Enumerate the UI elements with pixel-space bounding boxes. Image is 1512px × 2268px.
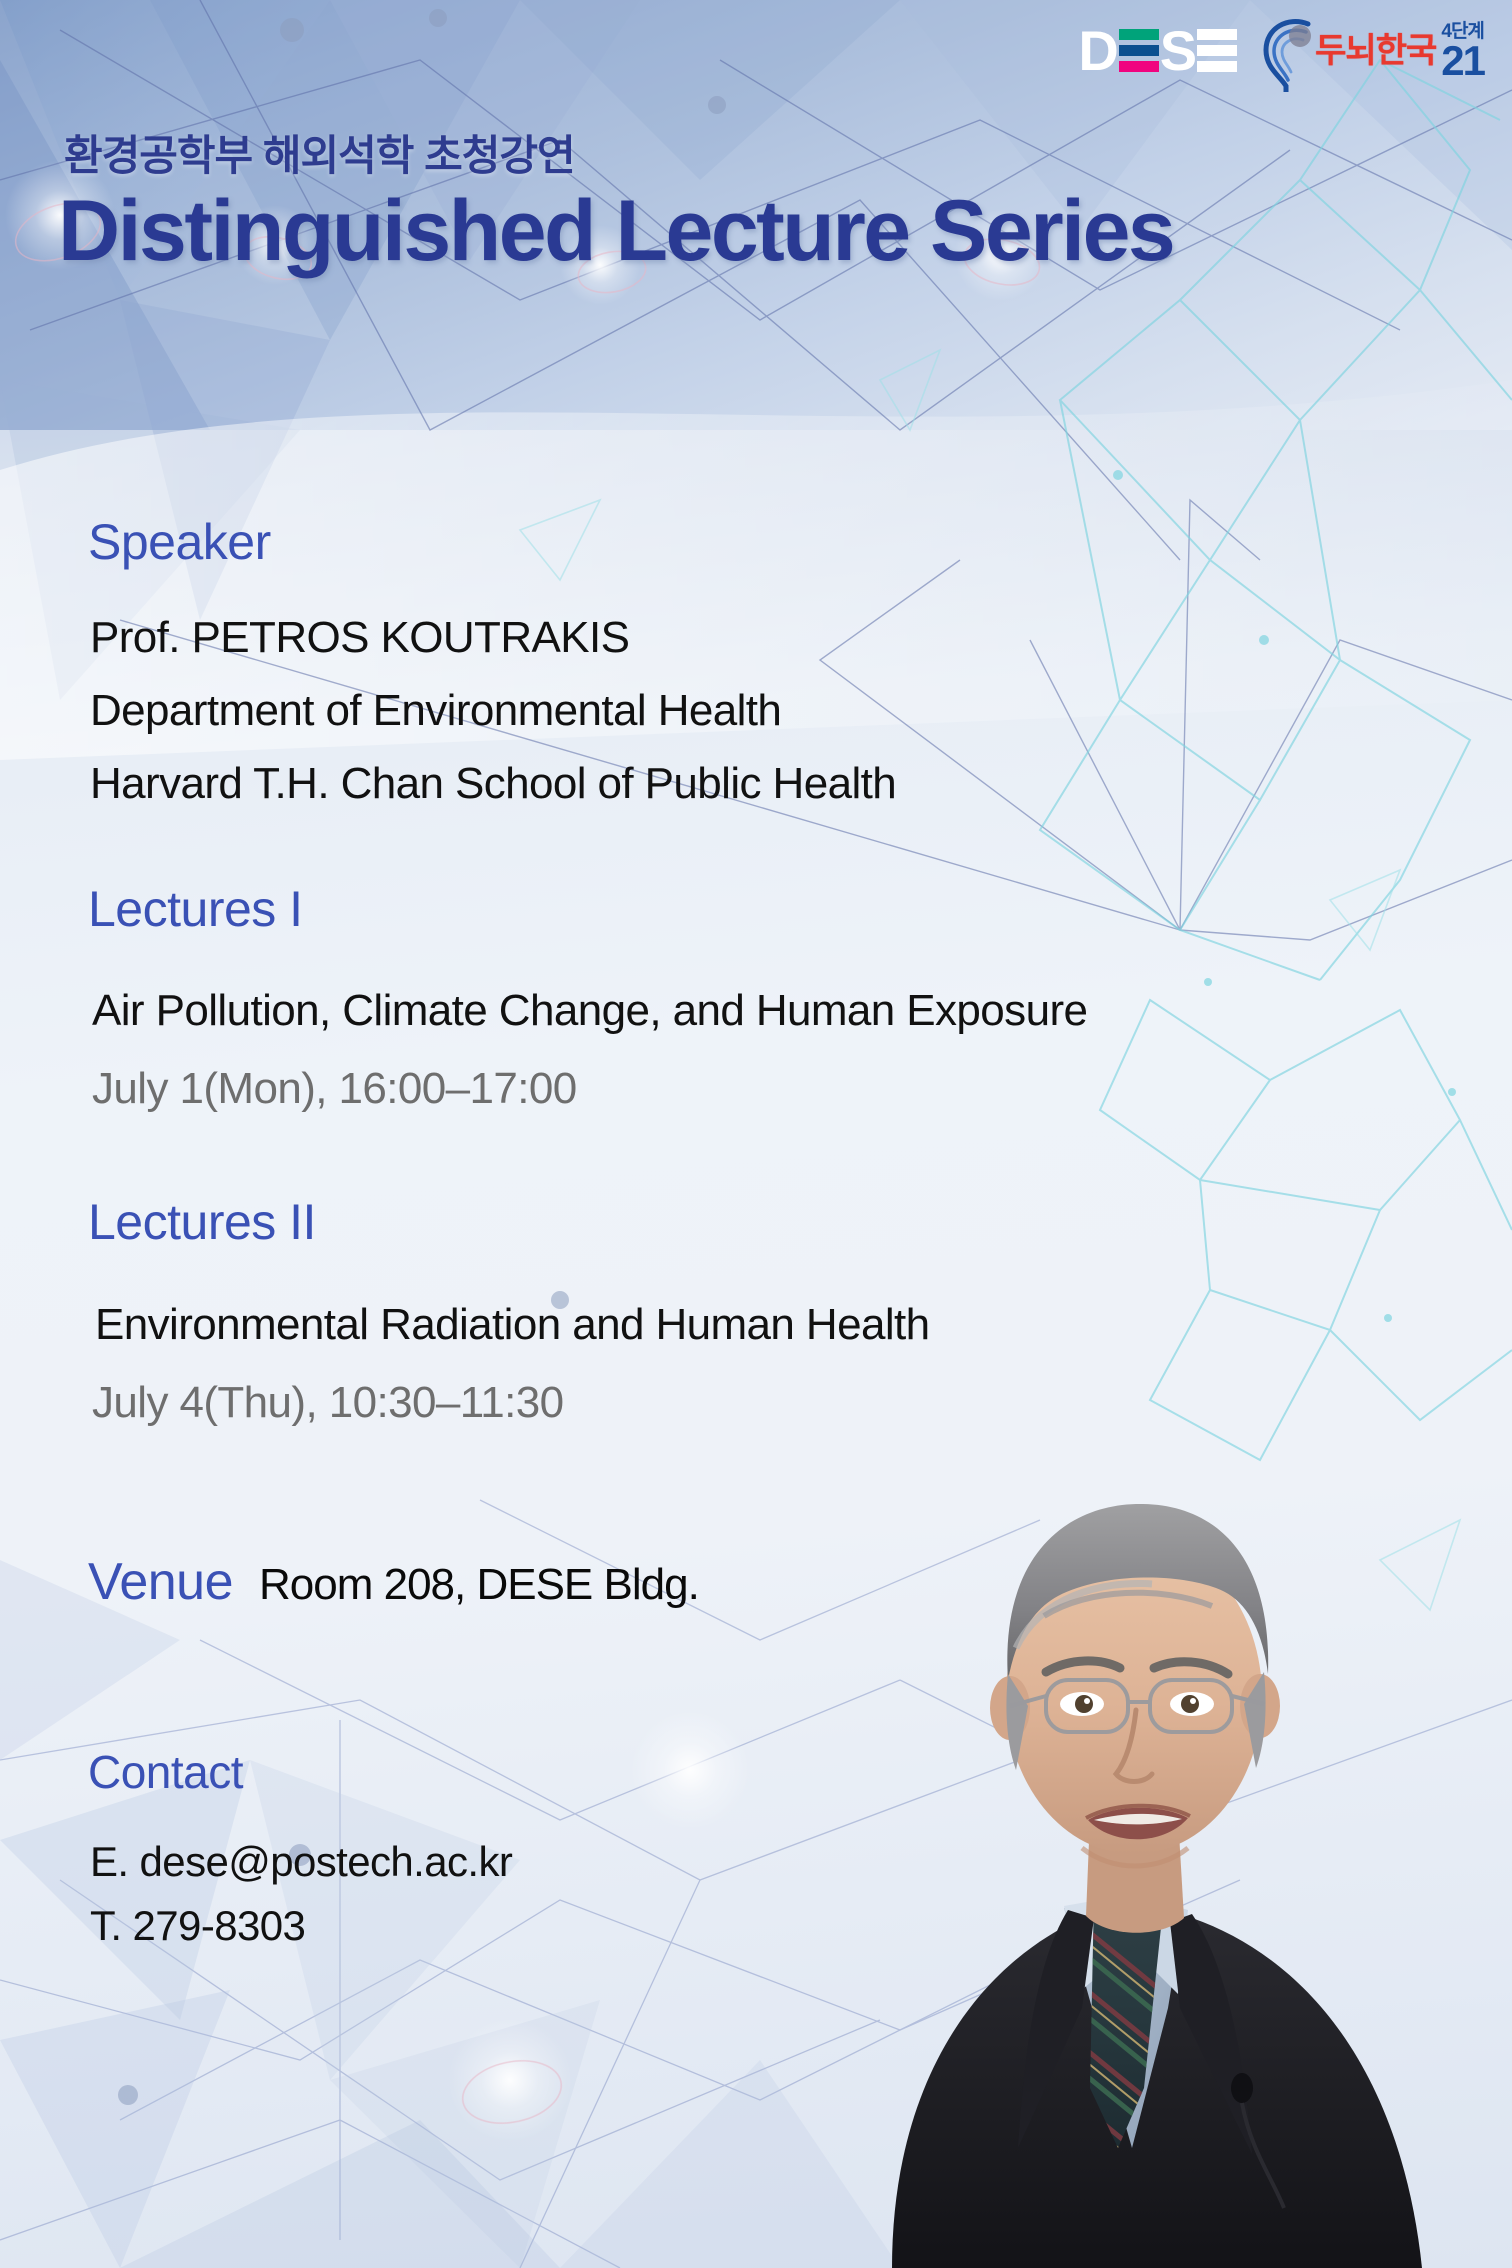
speaker-portrait bbox=[832, 1448, 1512, 2268]
dese-logo-bars-e2 bbox=[1197, 29, 1237, 72]
lecture-1-topic: Air Pollution, Climate Change, and Human… bbox=[92, 986, 1087, 1036]
lecture-1-heading: Lectures I bbox=[88, 880, 303, 938]
page-title: Distinguished Lecture Series bbox=[58, 182, 1173, 281]
lecture-2-topic: Environmental Radiation and Human Health bbox=[95, 1300, 930, 1350]
logo-group: D S 두뇌한국 bbox=[1078, 16, 1484, 86]
contact-heading: Contact bbox=[88, 1745, 243, 1799]
speaker-heading: Speaker bbox=[88, 513, 271, 571]
speaker-name: Prof. PETROS KOUTRAKIS bbox=[90, 613, 629, 663]
brain-head-icon bbox=[1256, 16, 1318, 86]
speaker-department: Department of Environmental Health bbox=[90, 686, 781, 736]
venue-value: Room 208, DESE Bldg. bbox=[259, 1560, 699, 1610]
lecture-2-datetime: July 4(Thu), 10:30–11:30 bbox=[92, 1378, 564, 1428]
bk21-logo: 두뇌한국 4단계 21 bbox=[1256, 16, 1484, 86]
korean-subtitle: 환경공학부 해외석학 초청강연 bbox=[64, 122, 575, 183]
dese-logo: D S bbox=[1078, 24, 1238, 78]
contact-email: E. dese@postech.ac.kr bbox=[90, 1838, 512, 1886]
dese-logo-letter-s: S bbox=[1160, 24, 1196, 78]
bk21-number: 21 bbox=[1441, 41, 1484, 81]
bk21-korean-label: 두뇌한국 bbox=[1315, 34, 1436, 68]
bk21-number-block: 4단계 21 bbox=[1441, 22, 1484, 81]
dese-logo-letter-d: D bbox=[1078, 24, 1117, 78]
dese-logo-bars-e1 bbox=[1119, 29, 1159, 72]
contact-phone: T. 279-8303 bbox=[90, 1902, 305, 1950]
venue-row: Venue Room 208, DESE Bldg. bbox=[88, 1552, 699, 1612]
lecture-2-heading: Lectures II bbox=[88, 1193, 316, 1251]
venue-heading: Venue bbox=[88, 1552, 233, 1612]
lecture-1-datetime: July 1(Mon), 16:00–17:00 bbox=[92, 1064, 577, 1114]
speaker-institution: Harvard T.H. Chan School of Public Healt… bbox=[90, 759, 896, 809]
poster-root: D S 두뇌한국 bbox=[0, 0, 1512, 2268]
